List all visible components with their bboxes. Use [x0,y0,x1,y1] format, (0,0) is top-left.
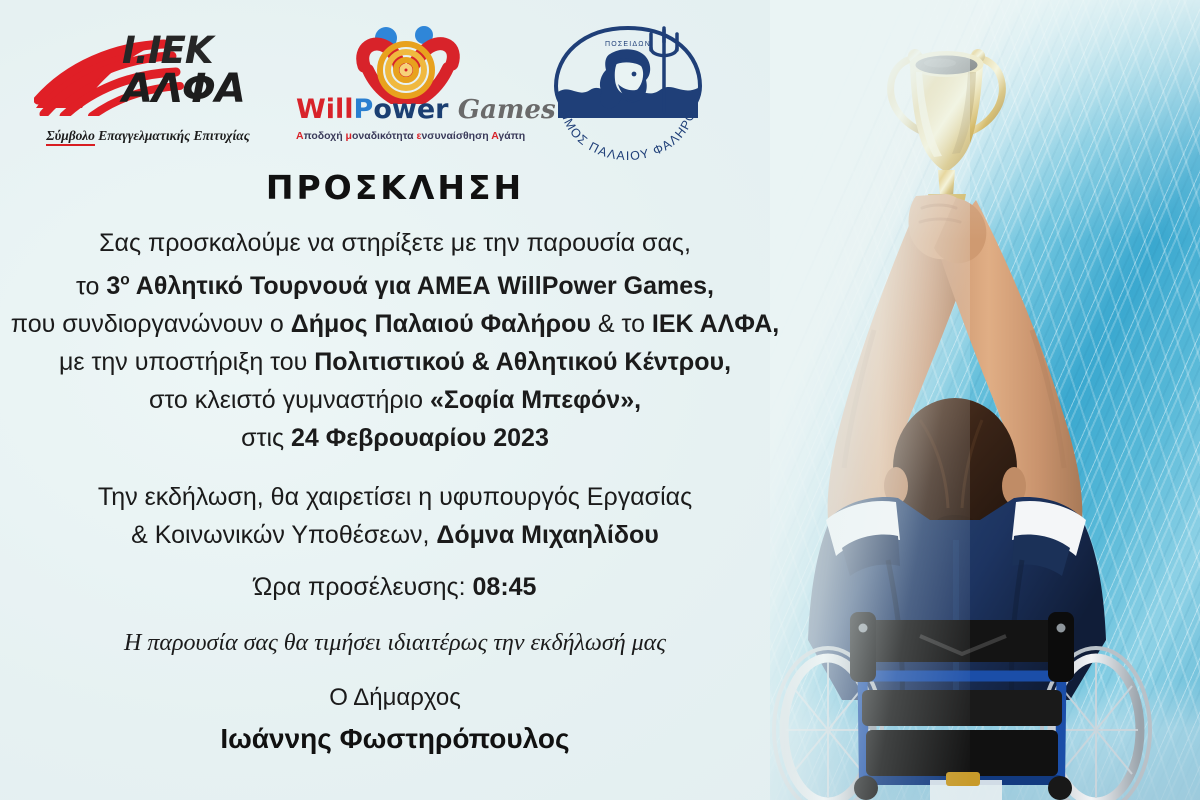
signature-block: Ο Δήμαρχος Ιωάννης Φωστηρόπουλος [0,678,790,760]
invitation-line-text: & το [591,310,652,338]
photo-left-feather [770,0,970,800]
invitation-line: στο κλειστό γυμναστήριο «Σοφία Μπεφόν», [0,381,790,419]
willpower-games-logo: WillPower Games Αποδοχή μοναδικότητα ενσ… [296,26,506,154]
willpower-games-wordmark: WillPower Games [296,96,506,123]
willpower-tagline-initial: Α [296,130,304,142]
invitation-line: Σας προσκαλούμε να στηρίξετε με την παρο… [0,224,790,262]
invitation-line: Την εκδήλωση, θα χαιρετίσει η υφυπουργός… [0,478,790,516]
willpower-word-ower: ower [373,94,448,125]
invitation-line-bold: «Σοφία Μπεφόν», [430,386,641,414]
willpower-tagline-word: οναδικότητα [352,130,417,142]
page-title: ΠΡΟΣΚΛΗΣΗ [0,168,790,207]
closing-italic-text: Η παρουσία σας θα τιμήσει ιδιαιτέρως την… [124,630,666,656]
invitation-line-bold: Πολιτιστικού & Αθλητικού Κέντρου, [314,348,731,376]
willpower-games-tagline: Αποδοχή μοναδικότητα ενσυναίσθηση Αγάπη [296,130,506,142]
invitation-line: & Κοινωνικών Υποθέσεων, Δόμνα Μιχαηλίδου [0,516,790,554]
invitation-line-text: το [76,272,106,300]
closing-italic-line: Η παρουσία σας θα τιμήσει ιδιαιτέρως την… [0,625,790,661]
invitation-line-bold: 24 Φεβρουαρίου 2023 [291,424,549,452]
invitation-line-text: Την εκδήλωση, θα χαιρετίσει η υφυπουργός… [98,483,692,511]
invitation-line: το 3ο Αθλητικό Τουρνουά για ΑΜΕΑ WillPow… [0,262,790,305]
logo-row: I.IEK ΑΛΦΑ Σύμβολο Επαγγελματικής Επιτυχ… [0,14,790,149]
iek-alfa-wordmark: I.IEK ΑΛΦΑ [122,34,272,108]
iek-alfa-line2: ΑΛΦΑ [122,70,272,108]
signature-name: Ιωάννης Φωστηρόπουλος [0,718,790,760]
arrival-time-line: Ώρα προσέλευσης: 08:45 [0,568,790,606]
dimos-palaiou-falirou-logo: ΠΟΣΕΙΔΩΝ ΔΗΜΟΣ ΠΑΛΑΙΟΥ ΦΑΛΗΡΟΥ [548,20,708,160]
invitation-line-text: που συνδιοργανώνουν ο [11,310,291,338]
iek-alfa-line1: I.IEK [122,34,272,68]
invitation-line-bold: Δήμος Παλαιού Φαλήρου [291,310,591,338]
invitation-line-text: & Κοινωνικών Υποθέσεων, [131,521,436,549]
invitation-line: που συνδιοργανώνουν ο Δήμος Παλαιού Φαλή… [0,305,790,343]
iek-alfa-tagline-rest: Επαγγελματικής Επιτυχίας [95,128,250,143]
willpower-tagline-word: ποδοχή [304,130,346,142]
invitation-line-text: με την υποστήριξη του [59,348,314,376]
arrival-time-value: 08:45 [473,573,537,601]
willpower-heart-spiral-icon [348,26,468,104]
invitation-line-text: Σας προσκαλούμε να στηρίξετε με την παρο… [99,229,691,257]
invitation-greeting-paragraph: Την εκδήλωση, θα χαιρετίσει η υφυπουργός… [0,478,790,554]
invitation-line-text: στις [241,424,291,452]
willpower-word-will: Will [296,94,354,125]
invitation-line-bold: ΙΕΚ ΑΛΦΑ, [652,310,779,338]
iek-alfa-logo: I.IEK ΑΛΦΑ Σύμβολο Επαγγελματικής Επιτυχ… [34,32,264,152]
invitation-line-bold: 3ο Αθλητικό Τουρνουά για ΑΜΕΑ WillPower … [106,272,714,300]
invitation-line-text: στο κλειστό γυμναστήριο [149,386,430,414]
poseidon-top-label: ΠΟΣΕΙΔΩΝ [605,41,651,48]
invitation-line: στις 24 Φεβρουαρίου 2023 [0,419,790,457]
invitation-main-paragraph: Σας προσκαλούμε να στηρίξετε με την παρο… [0,224,790,457]
willpower-tagline-word: γάπη [498,130,525,142]
willpower-word-p: P [354,94,374,125]
signature-role: Ο Δήμαρχος [0,678,790,718]
poseidon-emblem-icon: ΠΟΣΕΙΔΩΝ ΔΗΜΟΣ ΠΑΛΑΙΟΥ ΦΑΛΗΡΟΥ [548,20,708,160]
invitation-line: με την υποστήριξη του Πολιτιστικού & Αθλ… [0,343,790,381]
invitation-poster: I.IEK ΑΛΦΑ Σύμβολο Επαγγελματικής Επιτυχ… [0,0,1200,800]
iek-alfa-tagline: Σύμβολο Επαγγελματικής Επιτυχίας [34,128,262,144]
iek-alfa-tagline-underlined: Σύμβολο [46,128,95,146]
willpower-word-games: Games [458,95,556,125]
arrival-time-label: Ώρα προσέλευσης: [254,573,473,601]
willpower-tagline-word: νσυναίσθηση [421,130,491,142]
invitation-line-bold: Δόμνα Μιχαηλίδου [436,521,659,549]
wheelchair-athlete-trophy-photo [770,0,1200,800]
